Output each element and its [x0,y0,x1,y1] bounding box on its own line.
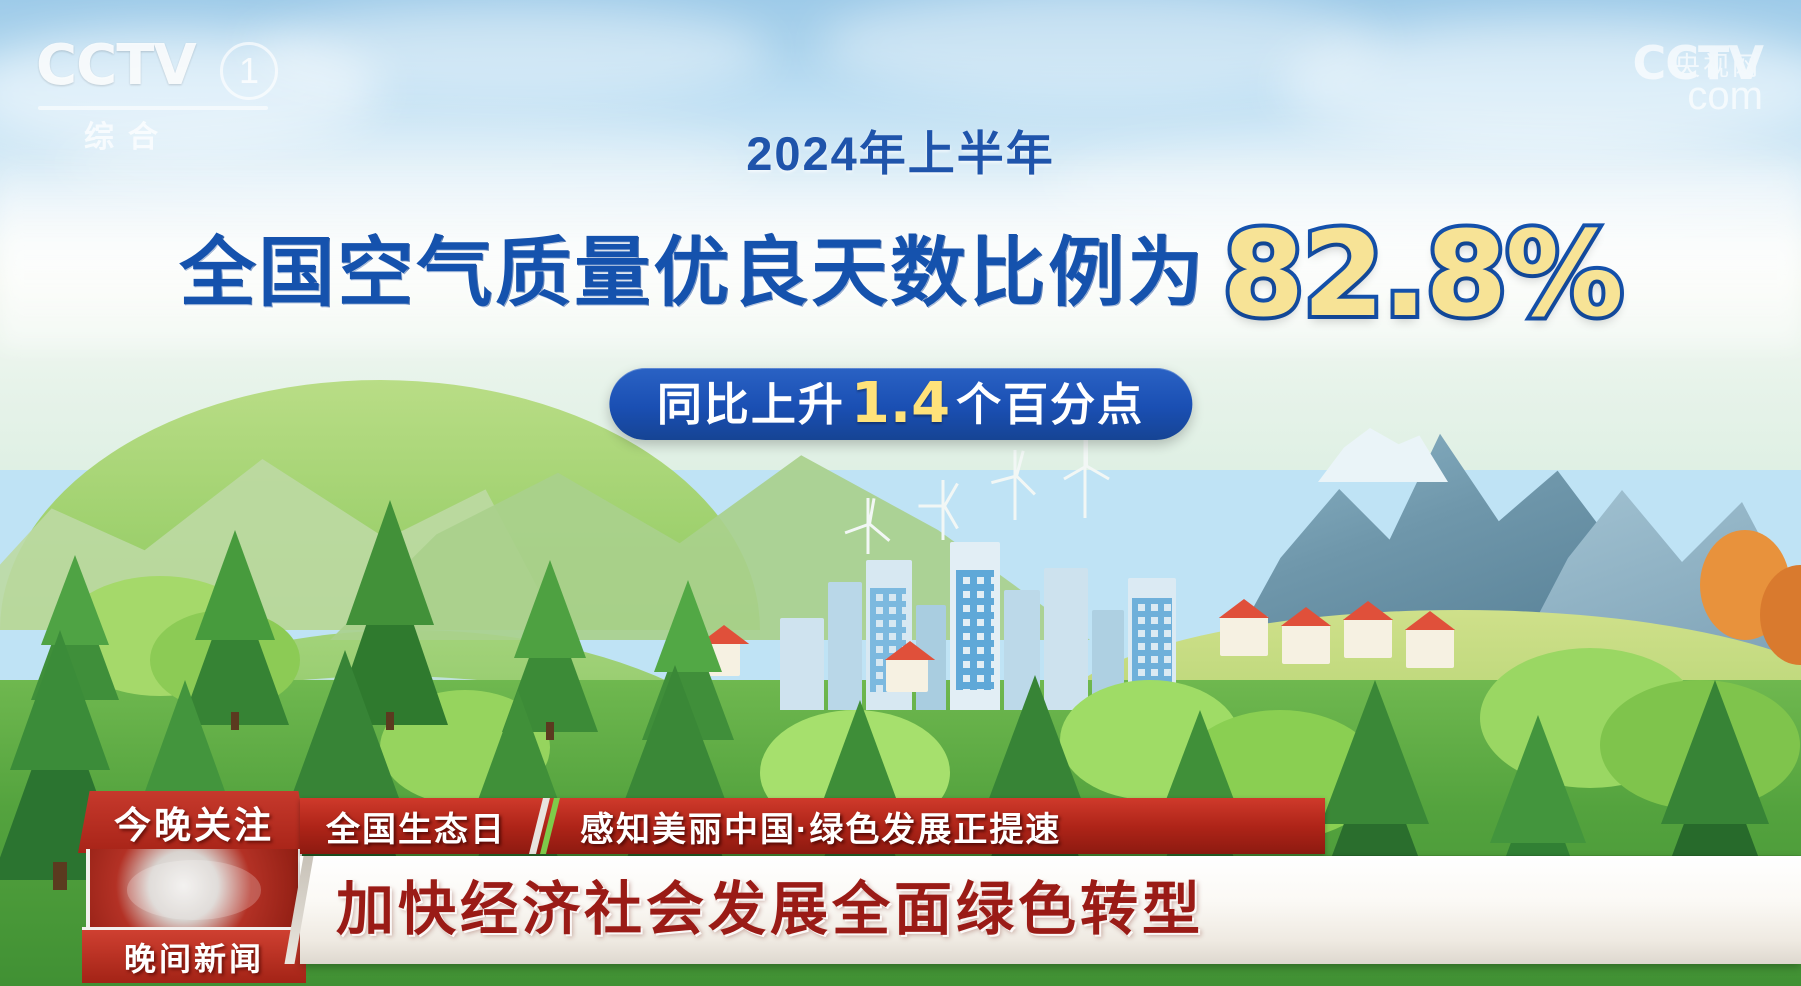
segment-title: 今晚关注 [114,795,274,849]
cloud [250,5,770,100]
house [1406,628,1454,668]
ticker-separator-icon [532,798,558,854]
house [1220,616,1268,656]
globe-icon [86,849,302,931]
channel-logo: CCTV 1 综合 [36,38,286,146]
logo-underline [38,106,268,110]
wind-turbine [1000,450,1030,520]
segment-title-banner: 今晚关注 [78,791,310,853]
program-name-banner: 晚间新闻 [82,927,306,983]
main-statement-row: 全国空气质量优良天数比例为 82.8% [0,218,1801,330]
badge-value: 1.4 [851,376,950,432]
channel-name-zh: 综合 [84,112,172,156]
headline-value: 82.8% [1222,218,1621,330]
program-name: 晚间新闻 [124,934,264,980]
house [1282,624,1330,664]
lower-third: 今晚关注 晚间新闻 全国生态日 感知美丽中国·绿色发展正提速 加快经济社会发展全… [0,686,1801,986]
house [1344,618,1392,658]
watermark-domain: com [1687,76,1763,116]
badge-prefix: 同比上升 [657,382,845,427]
ticker-tag: 全国生态日 [300,802,532,851]
main-headline: 加快经济社会发展全面绿色转型 [300,881,1204,939]
headline-bar: 加快经济社会发展全面绿色转型 [300,856,1801,964]
site-watermark: CCTV 央视网 com [1633,40,1764,86]
ticker-topic: 感知美丽中国·绿色发展正提速 [558,802,1083,851]
channel-number: 1 [220,42,278,100]
statement-text: 全国空气质量优良天数比例为 [179,236,1206,312]
snow-cap [1318,428,1448,482]
program-bug: 今晚关注 晚间新闻 [78,791,310,986]
topic-ticker: 全国生态日 感知美丽中国·绿色发展正提速 [300,798,1325,854]
badge-suffix: 个百分点 [956,382,1144,427]
comparison-badge: 同比上升 1.4 个百分点 [609,368,1192,440]
wind-turbine [1070,440,1100,518]
broadcast-screen: 2024年上半年 全国空气质量优良天数比例为 82.8% 同比上升 1.4 个百… [0,0,1801,986]
